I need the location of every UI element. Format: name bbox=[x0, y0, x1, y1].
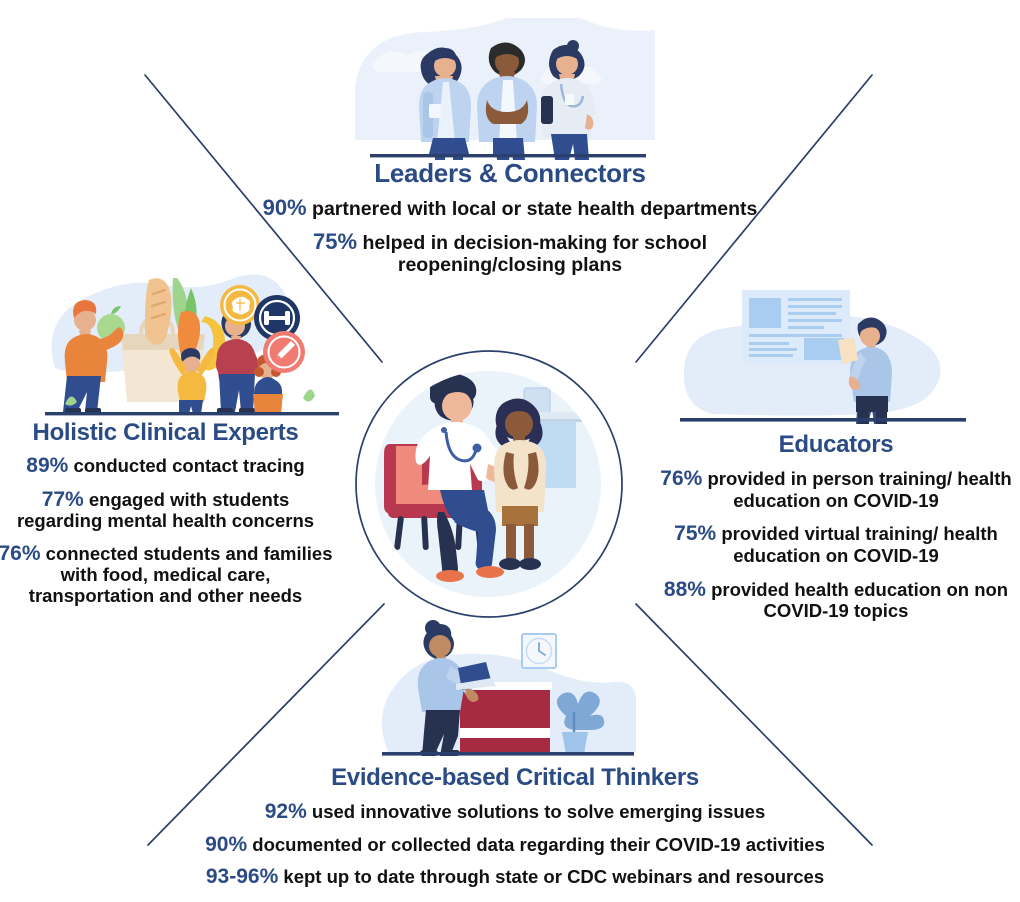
stat-text: helped in decision-making for school reo… bbox=[362, 232, 707, 276]
stat-percent: 77% bbox=[42, 488, 84, 511]
stat-percent: 90% bbox=[263, 195, 307, 220]
section-heading-evidence-based-critical-thinkers: Evidence-based Critical Thinkers bbox=[110, 765, 920, 790]
stat-percent: 90% bbox=[205, 833, 247, 856]
section-evidence-based-critical-thinkers: Evidence-based Critical Thinkers 92% use… bbox=[110, 765, 920, 898]
stat-line: 77% engaged with students regarding ment… bbox=[0, 488, 333, 532]
center-illustration bbox=[352, 348, 624, 620]
stat-text: partnered with local or state health dep… bbox=[312, 198, 757, 220]
section-heading-leaders-connectors: Leaders & Connectors bbox=[255, 160, 765, 187]
stat-line: 89% conducted contact tracing bbox=[0, 454, 333, 478]
stat-percent: 92% bbox=[265, 800, 307, 823]
stat-percent: 88% bbox=[664, 578, 706, 601]
infographic-canvas: Leaders & Connectors 90% partnered with … bbox=[0, 0, 1020, 902]
stat-line: 90% partnered with local or state health… bbox=[255, 196, 765, 221]
educators-illustration bbox=[672, 282, 968, 424]
section-leaders-connectors: Leaders & Connectors 90% partnered with … bbox=[255, 160, 765, 286]
evidence-based-critical-thinkers-illustration bbox=[370, 612, 640, 762]
stat-percent: 75% bbox=[313, 229, 357, 254]
stat-text: conducted contact tracing bbox=[73, 455, 304, 476]
stat-text: provided virtual training/ health educat… bbox=[721, 523, 998, 566]
section-heading-holistic-clinical-experts: Holistic Clinical Experts bbox=[0, 420, 333, 445]
stat-percent: 89% bbox=[26, 454, 68, 477]
stat-percent: 76% bbox=[0, 542, 41, 565]
leaders-connectors-illustration bbox=[355, 18, 655, 160]
stat-percent: 75% bbox=[674, 522, 716, 545]
stat-line: 75% helped in decision-making for school… bbox=[255, 230, 765, 277]
holistic-clinical-experts-illustration bbox=[45, 272, 345, 420]
stat-text: connected students and families with foo… bbox=[29, 543, 333, 606]
stat-line: 92% used innovative solutions to solve e… bbox=[110, 800, 920, 824]
stat-line: 88% provided health education on non COV… bbox=[655, 578, 1017, 622]
stat-text: documented or collected data regarding t… bbox=[252, 834, 825, 855]
stat-text: provided in person training/ health educ… bbox=[707, 468, 1011, 511]
section-holistic-clinical-experts: Holistic Clinical Experts 89% conducted … bbox=[0, 420, 333, 617]
stat-text: used innovative solutions to solve emerg… bbox=[312, 801, 765, 822]
stat-line: 76% connected students and families with… bbox=[0, 542, 333, 607]
section-educators: Educators 76% provided in person trainin… bbox=[655, 432, 1017, 633]
stat-text: kept up to date through state or CDC web… bbox=[283, 866, 824, 887]
stat-line: 90% documented or collected data regardi… bbox=[110, 833, 920, 857]
stat-percent: 93-96% bbox=[206, 865, 278, 888]
stat-line: 75% provided virtual training/ health ed… bbox=[655, 522, 1017, 566]
stat-percent: 76% bbox=[660, 467, 702, 490]
stat-line: 76% provided in person training/ health … bbox=[655, 467, 1017, 511]
section-heading-educators: Educators bbox=[655, 432, 1017, 457]
stat-line: 93-96% kept up to date through state or … bbox=[110, 865, 920, 889]
stat-text: provided health education on non COVID-1… bbox=[711, 579, 1008, 622]
